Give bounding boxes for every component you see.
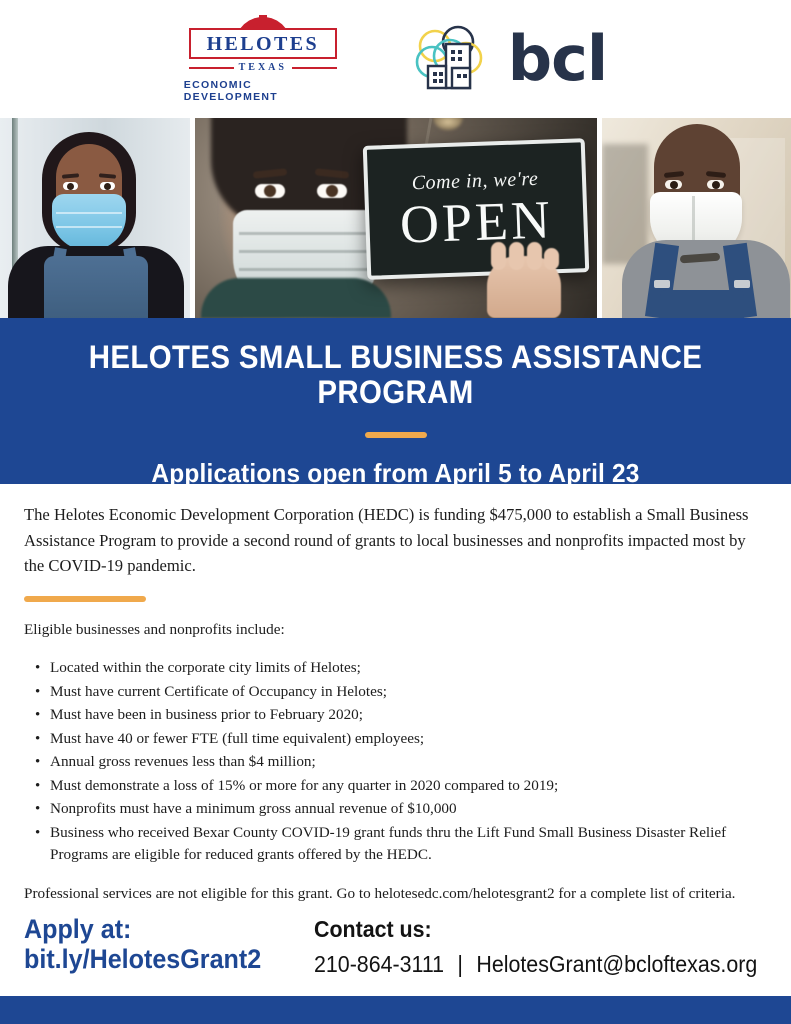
contact-phone[interactable]: 210-864-3111 bbox=[314, 951, 444, 977]
apply-link[interactable]: bit.ly/HelotesGrant2 bbox=[24, 944, 294, 974]
contact-separator: | bbox=[450, 951, 470, 977]
contact-label: Contact us: bbox=[314, 916, 757, 944]
contact-email[interactable]: HelotesGrant@bcloftexas.org bbox=[476, 951, 757, 977]
list-item: Must have current Certificate of Occupan… bbox=[24, 681, 767, 704]
list-item: Must demonstrate a loss of 15% or more f… bbox=[24, 775, 767, 798]
eligibility-criteria-list: Located within the corporate city limits… bbox=[24, 657, 767, 867]
helotes-state-label: TEXAS bbox=[239, 63, 287, 73]
texas-rule-left bbox=[189, 67, 234, 69]
list-item: Business who received Bexar County COVID… bbox=[24, 822, 767, 867]
photo-man-white-mask-overalls bbox=[602, 118, 791, 318]
photo-open-sign: Come in, we're OPEN bbox=[195, 118, 597, 318]
helotes-tagline: ECONOMIC DEVELOPMENT bbox=[184, 79, 342, 103]
bcl-wordmark: bcl bbox=[508, 31, 607, 87]
list-item: Must have 40 or fewer FTE (full time equ… bbox=[24, 728, 767, 751]
bottom-accent-bar bbox=[0, 996, 791, 1024]
helotes-wordmark: HELOTES bbox=[191, 34, 335, 54]
helotes-economic-development-logo: HELOTES TEXAS ECONOMIC DEVELOPMENT bbox=[184, 15, 342, 103]
texas-rule-right bbox=[292, 67, 337, 69]
contact-details: 210-864-3111 | HelotesGrant@bcloftexas.o… bbox=[314, 951, 757, 979]
program-intro-paragraph: The Helotes Economic Development Corpora… bbox=[24, 502, 767, 579]
eligibility-lead-in: Eligible businesses and nonprofits inclu… bbox=[24, 619, 767, 640]
photo-woman-blue-mask-apron bbox=[0, 118, 190, 318]
helotes-name-box: HELOTES bbox=[189, 28, 337, 59]
helotes-state-row: TEXAS bbox=[189, 63, 337, 73]
program-header-banner: HELOTES SMALL BUSINESS ASSISTANCE PROGRA… bbox=[0, 318, 791, 484]
flyer-page: HELOTES TEXAS ECONOMIC DEVELOPMENT bbox=[0, 0, 791, 1024]
footer: Apply at: bit.ly/HelotesGrant2 Contact u… bbox=[0, 914, 791, 996]
bcl-logo: bcl bbox=[408, 22, 607, 96]
photo-band: Come in, we're OPEN bbox=[0, 118, 791, 318]
list-item: Must have been in business prior to Febr… bbox=[24, 704, 767, 727]
list-item: Annual gross revenues less than $4 milli… bbox=[24, 751, 767, 774]
bcl-buildings-clouds-icon bbox=[408, 22, 492, 96]
body-content: The Helotes Economic Development Corpora… bbox=[0, 484, 791, 915]
header-accent-rule bbox=[365, 432, 427, 438]
list-item: Nonprofits must have a minimum gross ann… bbox=[24, 798, 767, 821]
closing-paragraph: Professional services are not eligible f… bbox=[24, 883, 767, 906]
contact-column: Contact us: 210-864-3111 | HelotesGrant@… bbox=[314, 914, 791, 978]
list-item: Located within the corporate city limits… bbox=[24, 657, 767, 680]
page-title: HELOTES SMALL BUSINESS ASSISTANCE PROGRA… bbox=[32, 340, 760, 410]
apply-column: Apply at: bit.ly/HelotesGrant2 bbox=[24, 914, 314, 974]
logo-bar: HELOTES TEXAS ECONOMIC DEVELOPMENT bbox=[0, 0, 791, 118]
intro-accent-rule bbox=[24, 596, 146, 602]
apply-label: Apply at: bbox=[24, 914, 294, 944]
